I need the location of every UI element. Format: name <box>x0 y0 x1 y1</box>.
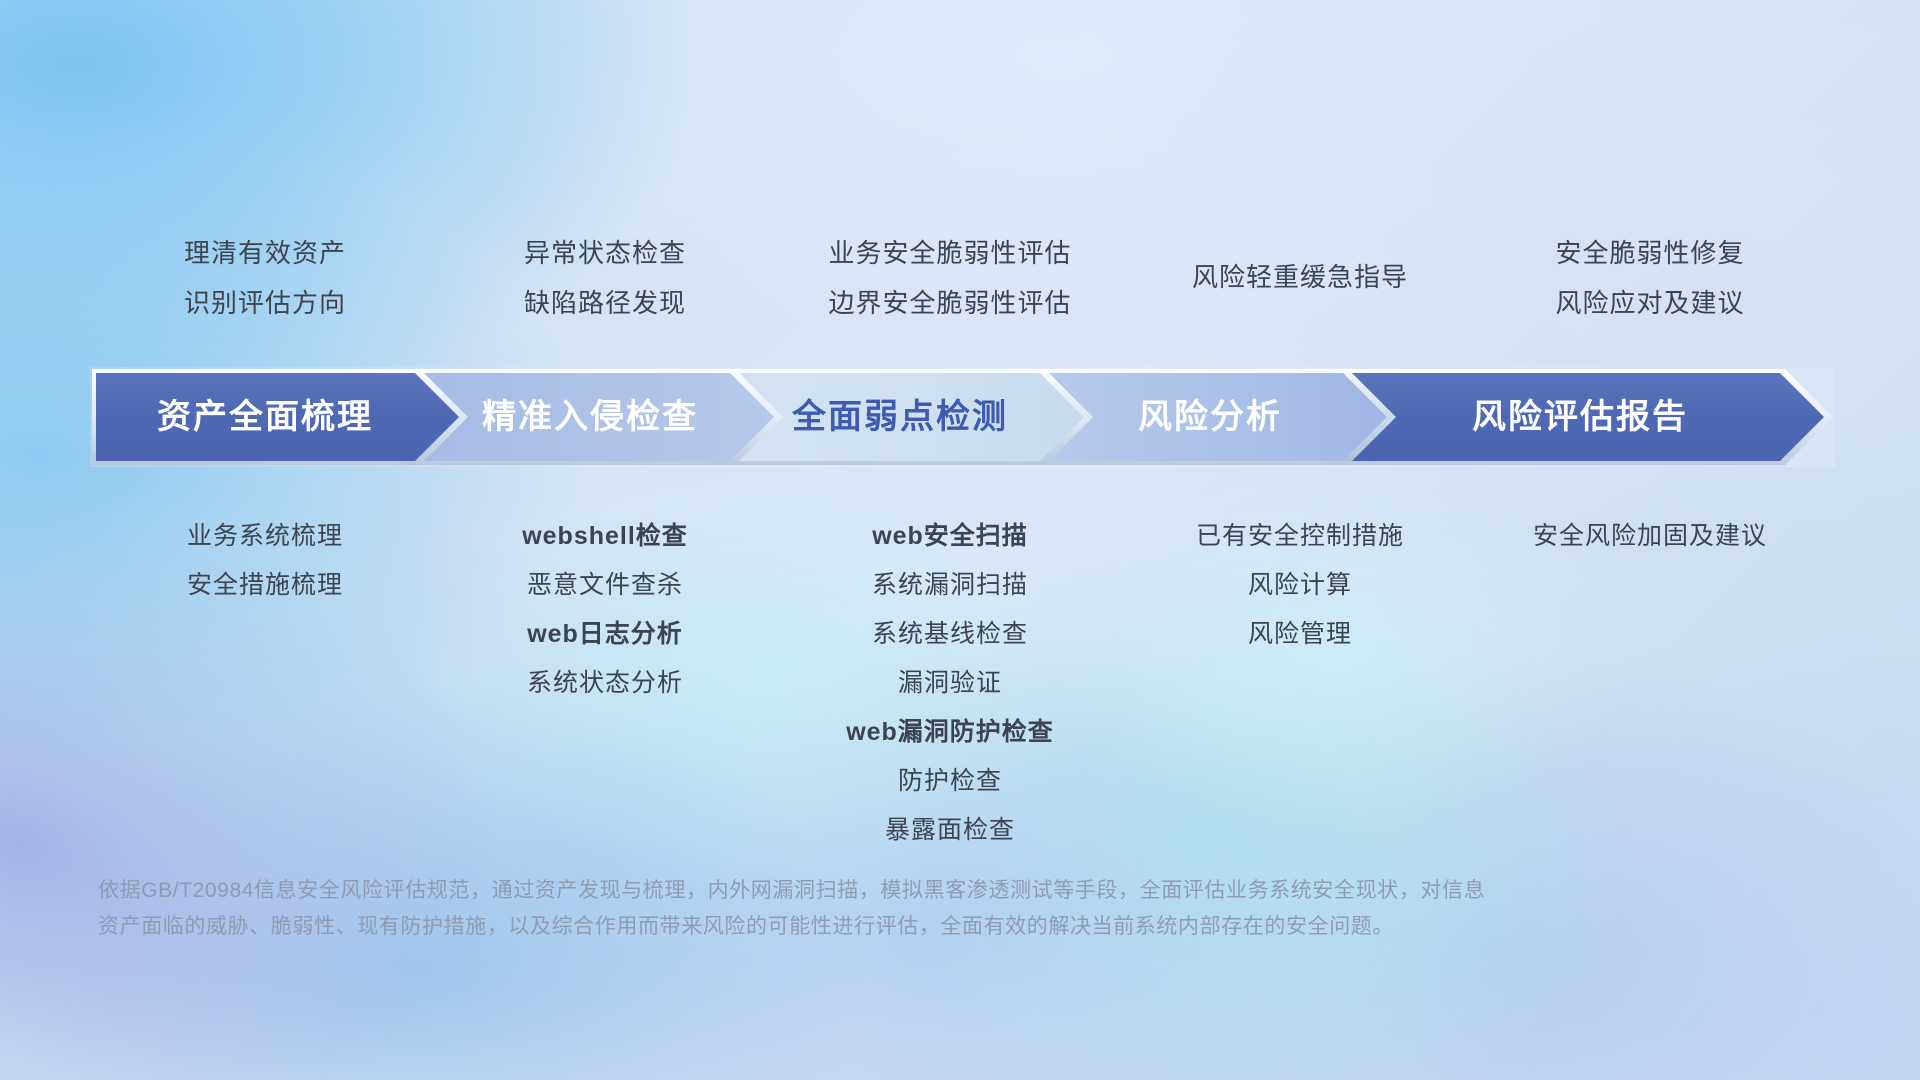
bottom-item: 系统基线检查 <box>775 610 1125 659</box>
top-item: 理清有效资产 <box>95 228 435 278</box>
bottom-col-weakness-detection: web安全扫描 系统漏洞扫描 系统基线检查 漏洞验证 web漏洞防护检查 防护检… <box>775 512 1125 855</box>
top-item: 缺陷路径发现 <box>435 278 775 328</box>
top-item: 异常状态检查 <box>435 228 775 278</box>
top-item: 业务安全脆弱性评估 <box>775 228 1125 278</box>
top-item: 安全脆弱性修复 <box>1475 228 1825 278</box>
bottom-item: 系统漏洞扫描 <box>775 561 1125 610</box>
top-col-weakness-detection: 业务安全脆弱性评估 边界安全脆弱性评估 <box>775 228 1125 328</box>
bottom-item: 业务系统梳理 <box>95 512 435 561</box>
arrow-shape-asset-inventory <box>92 369 468 465</box>
bottom-item: 暴露面检查 <box>775 806 1125 855</box>
footer-line-1: 依据GB/T20984信息安全风险评估规范，通过资产发现与梳理，内外网漏洞扫描，… <box>98 873 1598 909</box>
bottom-item: 恶意文件查杀 <box>435 561 775 610</box>
top-item: 边界安全脆弱性评估 <box>775 278 1125 328</box>
bottom-col-risk-analysis: 已有安全控制措施 风险计算 风险管理 <box>1125 512 1475 659</box>
top-col-risk-report: 安全脆弱性修复 风险应对及建议 <box>1475 228 1825 328</box>
bottom-details-row: 业务系统梳理 安全措施梳理 webshell检查 恶意文件查杀 web日志分析 … <box>95 512 1825 855</box>
top-descriptions-row: 理清有效资产 识别评估方向 异常状态检查 缺陷路径发现 业务安全脆弱性评估 边界… <box>95 228 1825 328</box>
top-col-risk-analysis: 风险轻重缓急指导 <box>1125 228 1475 328</box>
bottom-item: 安全风险加固及建议 <box>1475 512 1825 561</box>
bottom-item: 安全措施梳理 <box>95 561 435 610</box>
top-item: 风险轻重缓急指导 <box>1125 252 1475 302</box>
bottom-item: webshell检查 <box>522 522 688 550</box>
bottom-item: 风险管理 <box>1125 610 1475 659</box>
bottom-col-risk-report: 安全风险加固及建议 <box>1475 512 1825 561</box>
footer-line-2: 资产面临的威胁、脆弱性、现有防护措施，以及综合作用而带来风险的可能性进行评估，全… <box>98 909 1598 945</box>
top-item: 识别评估方向 <box>95 278 435 328</box>
bottom-item: web安全扫描 <box>872 522 1028 550</box>
top-col-asset-inventory: 理清有效资产 识别评估方向 <box>95 228 435 328</box>
bottom-item: 风险计算 <box>1125 561 1475 610</box>
arrow-shape-risk-report <box>1330 369 1833 465</box>
top-col-intrusion-check: 异常状态检查 缺陷路径发现 <box>435 228 775 328</box>
bottom-item: 已有安全控制措施 <box>1125 512 1475 561</box>
footer-description: 依据GB/T20984信息安全风险评估规范，通过资产发现与梳理，内外网漏洞扫描，… <box>98 873 1598 945</box>
infographic-root: 理清有效资产 识别评估方向 异常状态检查 缺陷路径发现 业务安全脆弱性评估 边界… <box>0 0 1920 1080</box>
bottom-item: 系统状态分析 <box>435 659 775 708</box>
bottom-item: web日志分析 <box>527 620 683 648</box>
bottom-item: 漏洞验证 <box>775 659 1125 708</box>
bottom-item: 防护检查 <box>775 757 1125 806</box>
top-item: 风险应对及建议 <box>1475 278 1825 328</box>
bottom-col-asset-inventory: 业务系统梳理 安全措施梳理 <box>95 512 435 610</box>
bottom-item: web漏洞防护检查 <box>846 718 1054 746</box>
process-arrow-banner: 资产全面梳理 精准入侵检查 全面弱点检测 风险分析 风险评估报告 <box>90 367 1835 467</box>
bottom-col-intrusion-check: webshell检查 恶意文件查杀 web日志分析 系统状态分析 <box>435 512 775 708</box>
